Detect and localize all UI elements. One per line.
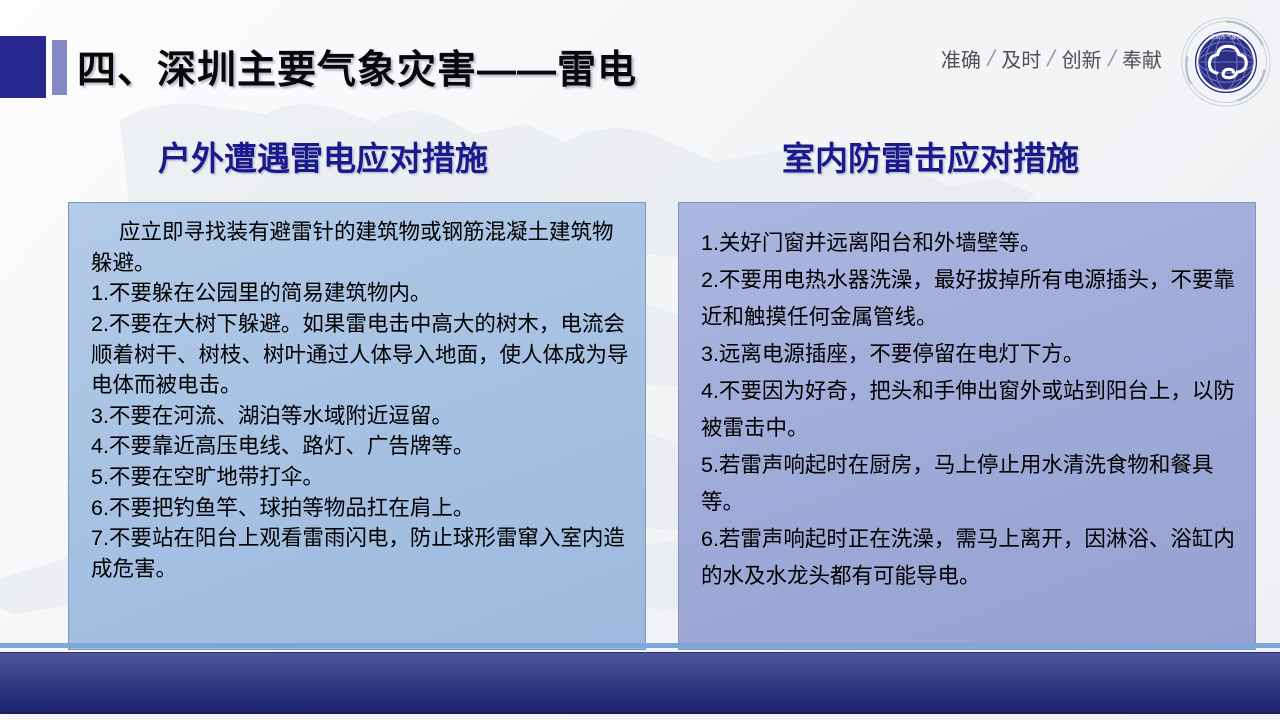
right-line-2: 3.远离电源插座，不要停留在电灯下方。 xyxy=(701,336,1239,373)
slogan-separator-icon: / xyxy=(1105,45,1118,72)
slogan-word-2: 及时 xyxy=(1001,44,1041,73)
title-accent-bar-dark xyxy=(0,36,46,98)
left-content-box: 应立即寻找装有避雷针的建筑物或钢筋混凝土建筑物躲避。 1.不要躲在公园里的简易建… xyxy=(68,202,646,650)
left-line-0: 应立即寻找装有避雷针的建筑物或钢筋混凝土建筑物躲避。 xyxy=(91,217,629,278)
slogan-separator-icon: / xyxy=(984,45,997,72)
right-line-5: 6.若雷声响起时正在洗澡，需马上离开，因淋浴、浴缸内的水及水龙头都有可能导电。 xyxy=(701,521,1239,595)
left-column-heading: 户外遭遇雷电应对措施 xyxy=(158,132,488,180)
right-line-1: 2.不要用电热水器洗澡，最好拔掉所有电源插头，不要靠近和触摸任何金属管线。 xyxy=(701,262,1239,336)
right-line-4: 5.若雷声响起时在厨房，马上停止用水清洗食物和餐具等。 xyxy=(701,447,1239,521)
left-line-7: 7.不要站在阳台上观看雷雨闪电，防止球形雷窜入室内造成危害。 xyxy=(91,523,629,584)
right-content-box: 1.关好门窗并远离阳台和外墙壁等。 2.不要用电热水器洗澡，最好拔掉所有电源插头… xyxy=(678,202,1256,650)
right-line-0: 1.关好门窗并远离阳台和外墙壁等。 xyxy=(701,225,1239,262)
left-line-6: 6.不要把钓鱼竿、球拍等物品扛在肩上。 xyxy=(91,493,629,524)
left-line-2: 2.不要在大树下躲避。如果雷电击中高大的树木，电流会顺着树干、树枝、树叶通过人体… xyxy=(91,309,629,401)
title-accent-bar-light xyxy=(52,40,67,95)
slogan-word-1: 准确 xyxy=(941,44,981,73)
footer-accent-line xyxy=(0,643,1280,648)
left-line-4: 4.不要靠近高压电线、路灯、广告牌等。 xyxy=(91,431,629,462)
right-column-heading: 室内防雷击应对措施 xyxy=(782,132,1079,180)
slogan: 准确 / 及时 / 创新 / 奉献 xyxy=(941,44,1162,73)
left-line-3: 3.不要在河流、湖泊等水域附近逗留。 xyxy=(91,401,629,432)
page-title: 四、深圳主要气象灾害——雷电 xyxy=(77,39,637,95)
footer-bar xyxy=(0,652,1280,714)
slogan-word-3: 创新 xyxy=(1062,44,1102,73)
slogan-separator-icon: / xyxy=(1045,45,1058,72)
slogan-word-4: 奉献 xyxy=(1122,44,1162,73)
left-line-5: 5.不要在空旷地带打伞。 xyxy=(91,462,629,493)
svg-text:深圳市气象局: 深圳市气象局 xyxy=(1209,33,1243,41)
right-line-3: 4.不要因为好奇，把头和手伸出窗外或站到阳台上，以防被雷击中。 xyxy=(701,373,1239,447)
shenzhen-meteorological-bureau-logo-icon: 深圳市气象局 xyxy=(1180,16,1272,108)
left-line-1: 1.不要躲在公园里的简易建筑物内。 xyxy=(91,278,629,309)
slide-root: 四、深圳主要气象灾害——雷电 准确 / 及时 / 创新 / 奉献 深圳市气象局 … xyxy=(0,0,1280,720)
